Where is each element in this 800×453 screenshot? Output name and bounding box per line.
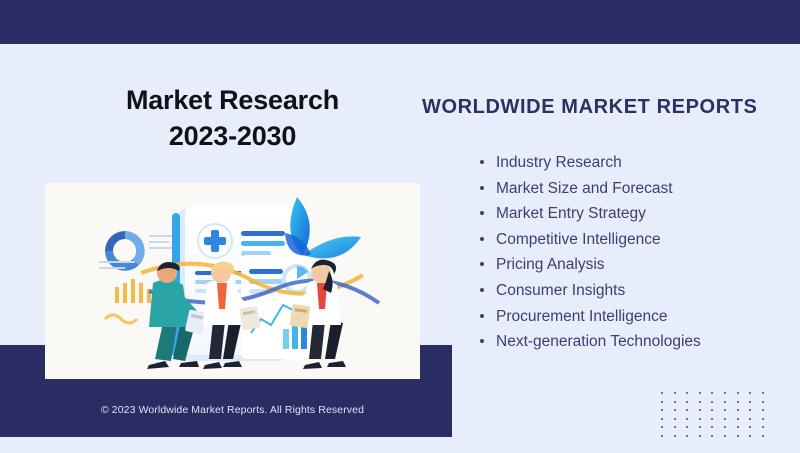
copyright-text: © 2023 Worldwide Market Reports. All Rig… — [45, 404, 420, 416]
healthcare-illustration-icon — [45, 183, 420, 379]
grid-dot-icon — [699, 392, 701, 394]
grid-dot-icon — [724, 426, 726, 428]
bullet-dot-icon — [480, 314, 484, 318]
grid-dot-icon — [686, 401, 688, 403]
list-item-label: Market Entry Strategy — [496, 205, 646, 222]
dot-grid-row — [661, 435, 774, 444]
grid-dot-icon — [762, 418, 764, 420]
grid-dot-icon — [674, 409, 676, 411]
grid-dot-icon — [699, 435, 701, 437]
dot-grid-row — [661, 392, 774, 401]
list-item: Pricing Analysis — [478, 252, 798, 278]
page-title-line-1: Market Research — [126, 85, 339, 115]
list-item-label: Industry Research — [496, 154, 622, 171]
grid-dot-icon — [749, 392, 751, 394]
grid-dot-icon — [724, 435, 726, 437]
grid-dot-icon — [711, 418, 713, 420]
list-item: Industry Research — [478, 150, 798, 176]
right-column: WORLDWIDE MARKET REPORTS — [420, 96, 790, 119]
grid-dot-icon — [762, 426, 764, 428]
grid-dot-icon — [674, 401, 676, 403]
grid-dot-icon — [762, 409, 764, 411]
grid-dot-icon — [661, 392, 663, 394]
grid-dot-icon — [762, 392, 764, 394]
grid-dot-icon — [724, 392, 726, 394]
list-item-label: Next-generation Technologies — [496, 333, 701, 350]
list-item: Consumer Insights — [478, 278, 798, 304]
slide-canvas: Market Research 2023-2030 — [0, 0, 800, 450]
grid-dot-icon — [711, 409, 713, 411]
grid-dot-icon — [737, 435, 739, 437]
grid-dot-icon — [674, 392, 676, 394]
feature-list: Industry Research Market Size and Foreca… — [478, 150, 798, 355]
dot-grid-row — [661, 409, 774, 418]
dot-grid-decoration — [661, 392, 774, 443]
grid-dot-icon — [737, 392, 739, 394]
grid-dot-icon — [674, 435, 676, 437]
grid-dot-icon — [661, 426, 663, 428]
list-item: Procurement Intelligence — [478, 304, 798, 330]
grid-dot-icon — [699, 418, 701, 420]
grid-dot-icon — [737, 409, 739, 411]
list-item-label: Consumer Insights — [496, 282, 625, 299]
dot-grid-row — [661, 418, 774, 427]
list-item-label: Procurement Intelligence — [496, 308, 667, 325]
grid-dot-icon — [661, 435, 663, 437]
dot-grid-row — [661, 426, 774, 435]
grid-dot-icon — [699, 401, 701, 403]
list-item-label: Market Size and Forecast — [496, 180, 673, 197]
grid-dot-icon — [724, 409, 726, 411]
grid-dot-icon — [686, 435, 688, 437]
grid-dot-icon — [724, 418, 726, 420]
grid-dot-icon — [674, 418, 676, 420]
grid-dot-icon — [762, 401, 764, 403]
grid-dot-icon — [699, 426, 701, 428]
illustration-card — [45, 183, 420, 379]
bullet-dot-icon — [480, 288, 484, 292]
grid-dot-icon — [737, 418, 739, 420]
bullet-dot-icon — [480, 160, 484, 164]
grid-dot-icon — [737, 426, 739, 428]
grid-dot-icon — [711, 392, 713, 394]
grid-dot-icon — [762, 435, 764, 437]
grid-dot-icon — [711, 435, 713, 437]
grid-dot-icon — [686, 392, 688, 394]
grid-dot-icon — [661, 418, 663, 420]
grid-dot-icon — [749, 426, 751, 428]
grid-dot-icon — [711, 426, 713, 428]
grid-dot-icon — [661, 409, 663, 411]
list-item-label: Competitive Intelligence — [496, 231, 661, 248]
grid-dot-icon — [749, 435, 751, 437]
section-title: WORLDWIDE MARKET REPORTS — [420, 96, 790, 119]
grid-dot-icon — [699, 409, 701, 411]
bullet-dot-icon — [480, 339, 484, 343]
list-item-label: Pricing Analysis — [496, 256, 605, 273]
grid-dot-icon — [749, 409, 751, 411]
grid-dot-icon — [711, 401, 713, 403]
grid-dot-icon — [686, 426, 688, 428]
bullet-dot-icon — [480, 211, 484, 215]
bullet-dot-icon — [480, 237, 484, 241]
grid-dot-icon — [724, 401, 726, 403]
page-title: Market Research 2023-2030 — [45, 82, 420, 155]
bullet-dot-icon — [480, 186, 484, 190]
page-title-line-2: 2023-2030 — [45, 118, 420, 154]
top-navy-bar — [0, 0, 800, 44]
grid-dot-icon — [749, 401, 751, 403]
list-item: Competitive Intelligence — [478, 227, 798, 253]
bullet-dot-icon — [480, 262, 484, 266]
grid-dot-icon — [749, 418, 751, 420]
grid-dot-icon — [737, 401, 739, 403]
list-item: Market Size and Forecast — [478, 176, 798, 202]
grid-dot-icon — [674, 426, 676, 428]
list-item: Market Entry Strategy — [478, 201, 798, 227]
grid-dot-icon — [686, 418, 688, 420]
list-item: Next-generation Technologies — [478, 329, 798, 355]
dot-grid-row — [661, 401, 774, 410]
grid-dot-icon — [686, 409, 688, 411]
grid-dot-icon — [661, 401, 663, 403]
